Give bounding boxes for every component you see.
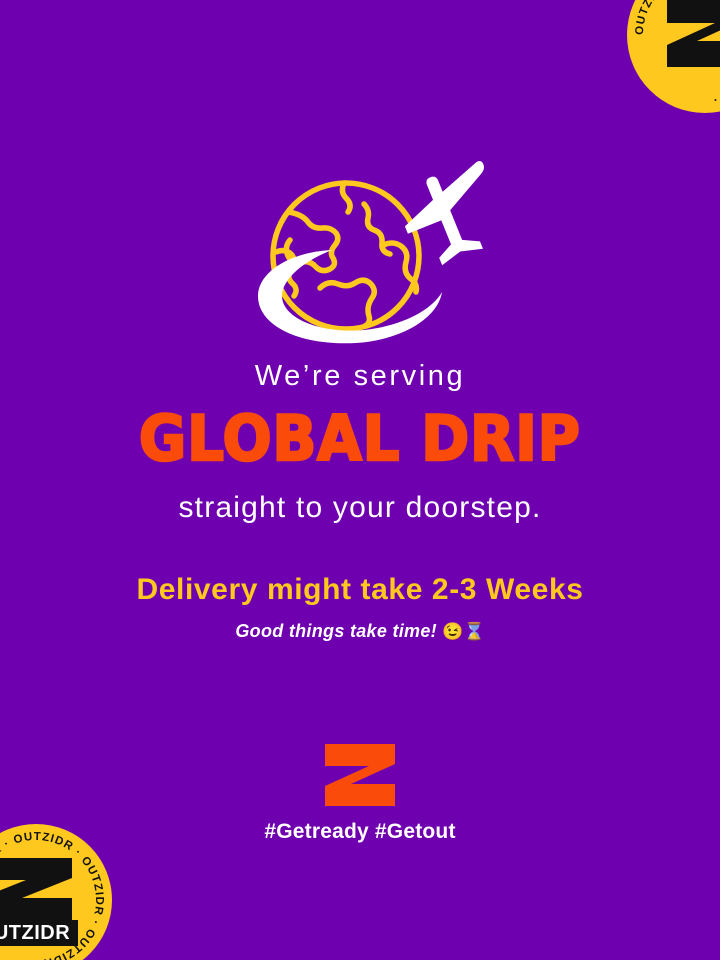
subline-text: straight to your doorstep. (0, 493, 720, 523)
badge-wordmark-bl: OUTZIDR (0, 922, 70, 944)
badge-center-mark-tr (667, 0, 720, 67)
globe-icon (273, 183, 419, 329)
brand-badge-top-right: OUTZIDR · OUTZIDR · OUTZIDR · OUTZIDR · (627, 0, 720, 113)
promo-poster: We’re serving GLOBAL DRIP straight to yo… (0, 0, 720, 960)
page-title: GLOBAL DRIP (0, 408, 720, 470)
delivery-notice: Delivery might take 2-3 Weeks (0, 575, 720, 605)
brand-badge-bottom-left: OUTZIDR · OUTZIDR · OUTZIDR · OUTZIDR · … (0, 824, 112, 960)
eyebrow-text: We’re serving (0, 362, 720, 391)
tagline-text: Good things take time! (235, 621, 437, 641)
outzidr-z-logo-icon (321, 744, 399, 806)
hero-artwork (236, 168, 484, 344)
tagline-emoji-icon: 😉⌛ (442, 622, 484, 641)
badge-center-mark-bl: OUTZIDR (0, 858, 78, 946)
copy-block: We’re serving GLOBAL DRIP straight to yo… (0, 362, 720, 640)
tagline: Good things take time! 😉⌛ (0, 622, 720, 640)
